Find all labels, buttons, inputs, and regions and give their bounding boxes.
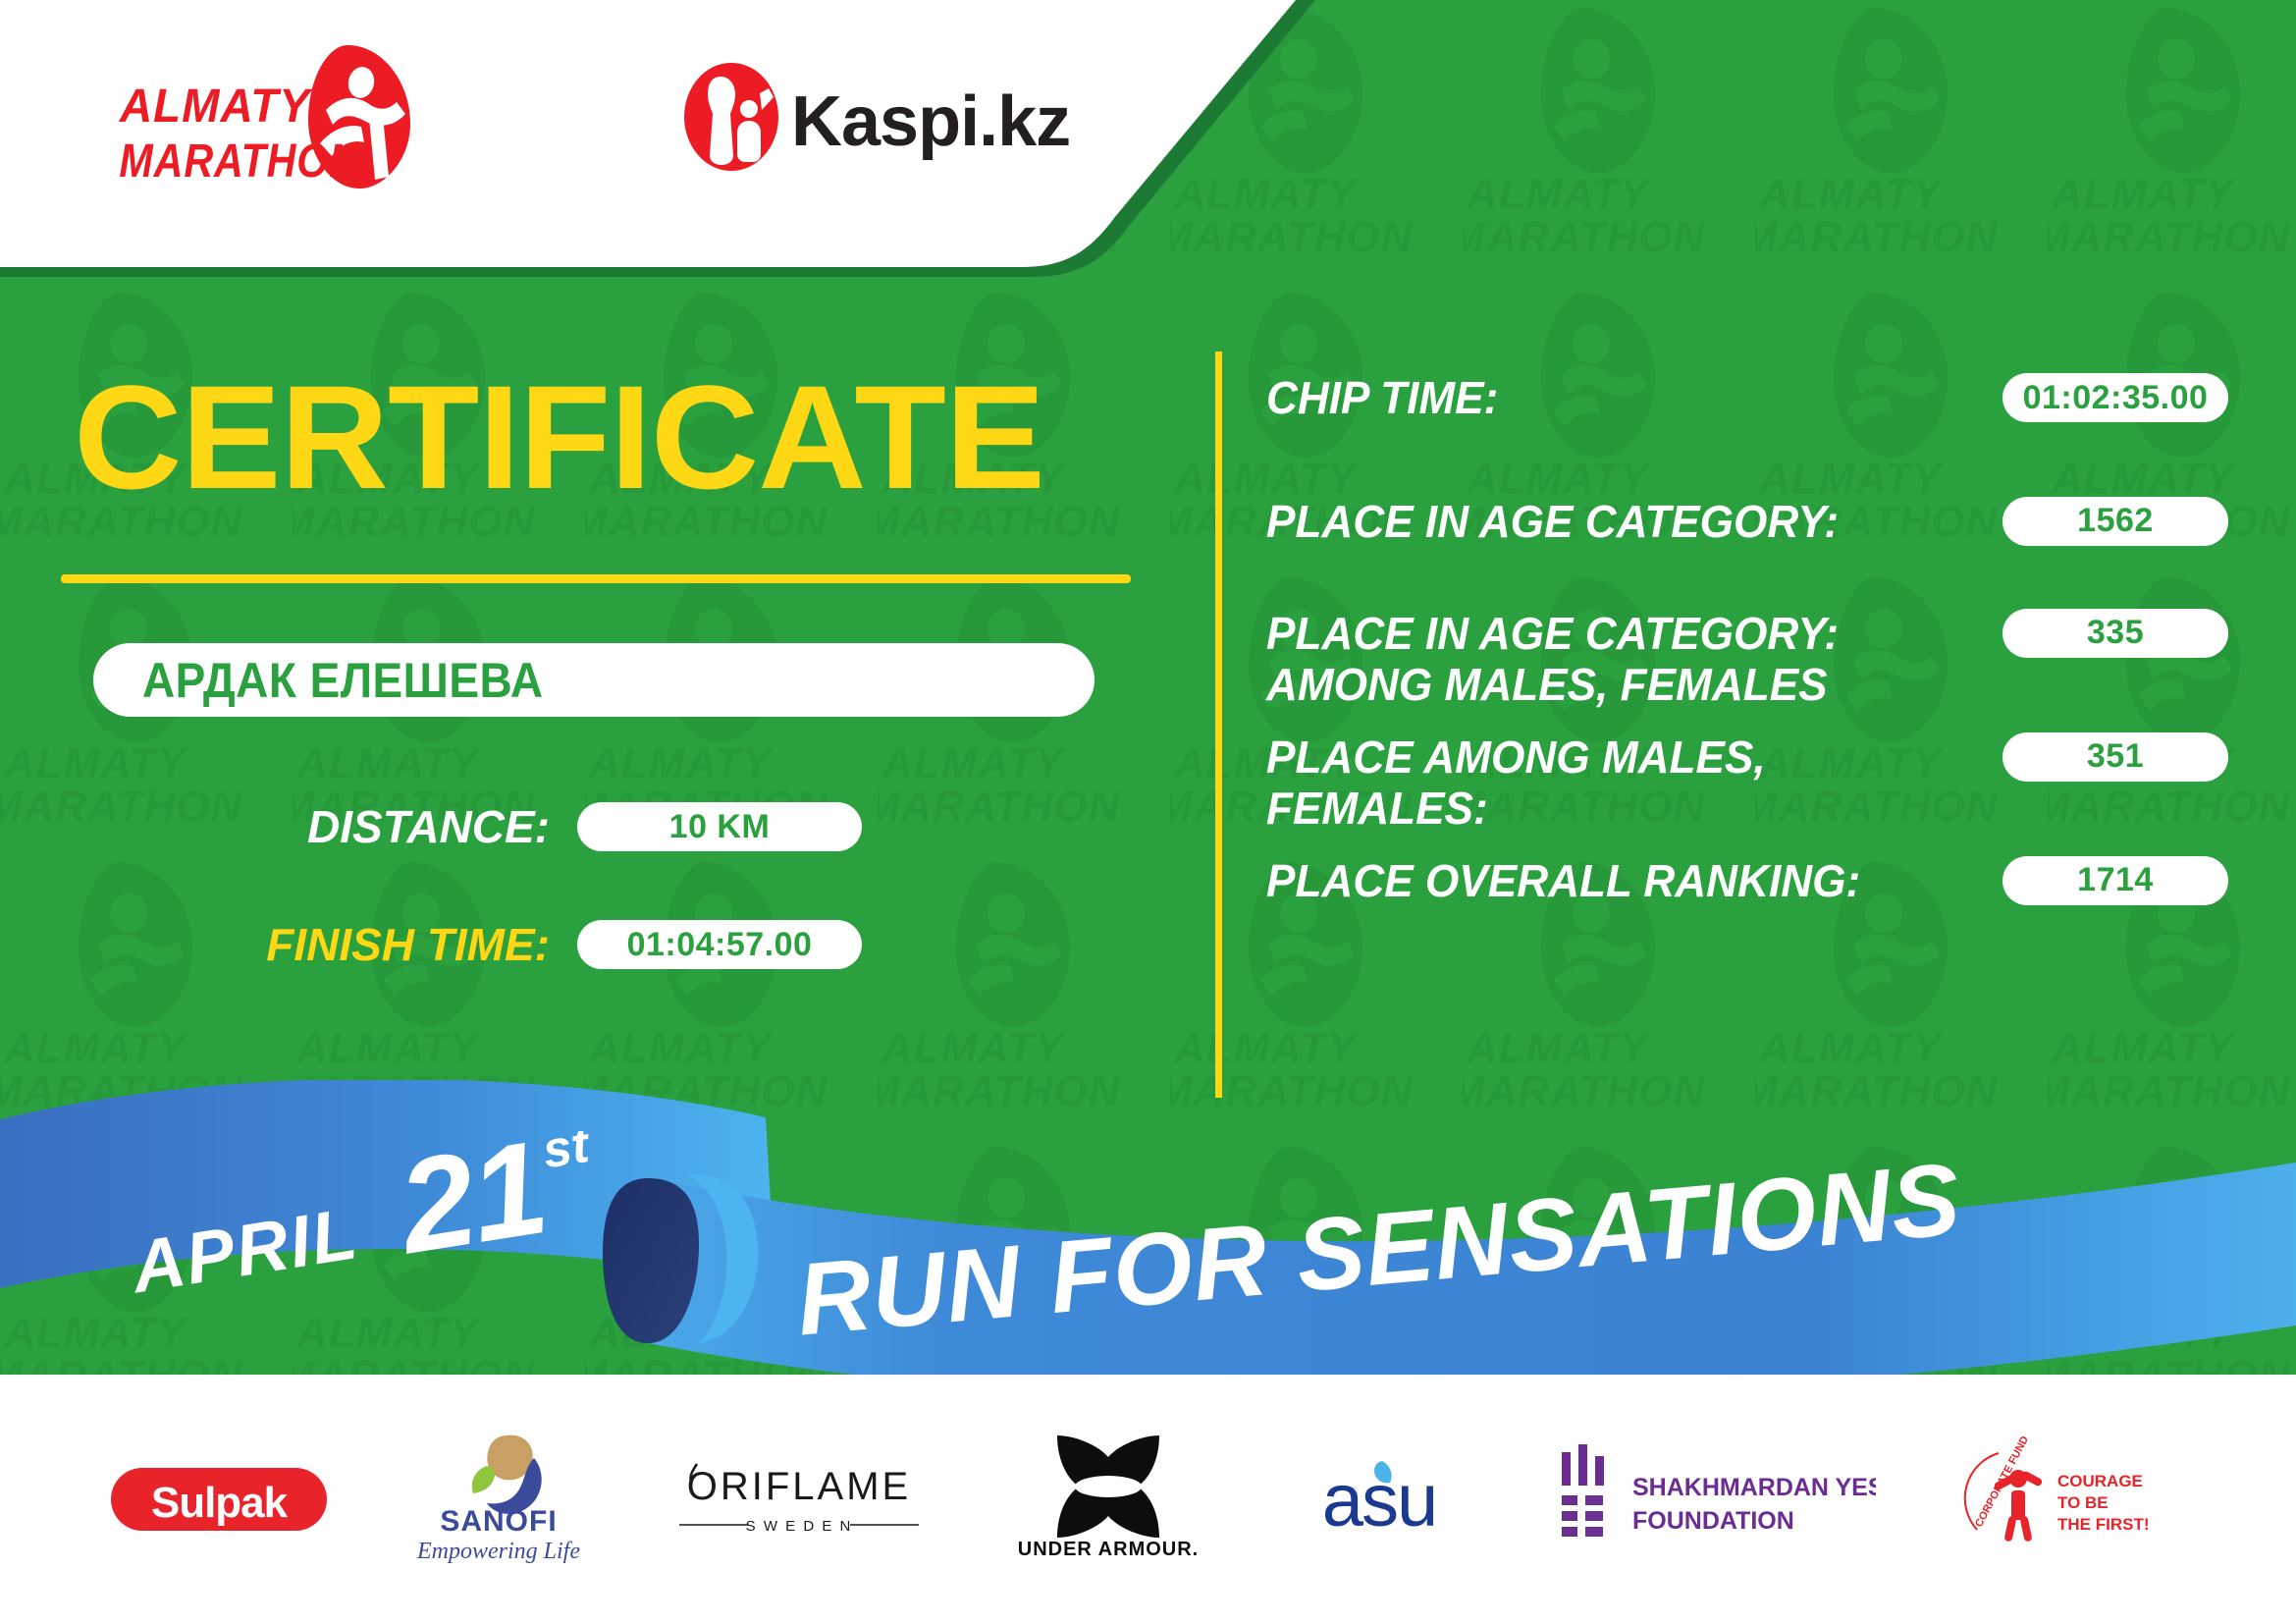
place-among-gender-label: PLACE AMONG MALES, FEMALES: — [1266, 732, 1973, 835]
sponsor-bar: Sulpak SANOFI Empowering Life ORIFLAME S… — [0, 1375, 2296, 1624]
sanofi-logo-tagline: Empowering Life — [416, 1539, 580, 1564]
place-age-category-gender-row: PLACE IN AGE CATEGORY: AMONG MALES, FEMA… — [1266, 609, 2228, 711]
place-age-category-value: 1562 — [2002, 497, 2228, 546]
finish-time-row: FINISH TIME: 01:04:57.00 — [265, 918, 862, 971]
sponsor-under-armour: UNDER ARMOUR. — [1010, 1426, 1206, 1573]
sanofi-logo-text: SANOFI — [441, 1505, 558, 1538]
chip-time-label: CHIP TIME: — [1266, 373, 1973, 424]
participant-name-field: АРДАК ЕЛЕШЕВА — [93, 643, 1095, 717]
sponsor-oriflame: ORIFLAME S W E D E N — [671, 1426, 927, 1573]
under-armour-logo-text: UNDER ARMOUR. — [1018, 1539, 1199, 1560]
place-among-gender-value: 351 — [2002, 732, 2228, 782]
page-title: CERTIFICATE — [74, 363, 1175, 511]
vertical-divider — [1215, 352, 1222, 1098]
chip-time-value: 01:02:35.00 — [2002, 373, 2228, 422]
finish-time-label: FINISH TIME: — [265, 918, 550, 971]
sponsor-sanofi: SANOFI Empowering Life — [410, 1426, 587, 1573]
almaty-logo-line2: MARATHON — [119, 135, 359, 188]
oriflame-logo: ORIFLAME S W E D E N — [671, 1450, 927, 1548]
sponsor-asu: asu — [1291, 1426, 1468, 1573]
almaty-marathon-logo: ALMATY MARATHON — [116, 41, 440, 193]
distance-label: DISTANCE: — [265, 800, 550, 853]
kaspi-people-icon — [684, 63, 778, 171]
title-underline — [61, 574, 1131, 583]
sponsor-courage-fund: CORPORATE FUND COURAGE TO BE THE FIRST! — [1959, 1426, 2185, 1573]
sanofi-logo: SANOFI Empowering Life — [410, 1431, 587, 1568]
participant-name-value: АРДАК ЕЛЕШЕВА — [142, 652, 544, 709]
courage-fund-line3: THE FIRST! — [2057, 1515, 2150, 1534]
place-among-gender-row: PLACE AMONG MALES, FEMALES: 351 — [1266, 732, 2228, 835]
place-age-category-row: PLACE IN AGE CATEGORY: 1562 — [1266, 497, 2228, 548]
almaty-logo-line1: ALMATY — [119, 79, 313, 132]
courage-fund-line1: COURAGE — [2057, 1472, 2143, 1490]
sponsor-sulpak: Sulpak — [111, 1426, 327, 1573]
kaspi-logo: Kaspi.kz — [677, 61, 1070, 174]
sponsor-yessenov-foundation: SHAKHMARDAN YESSENOV FOUNDATION — [1552, 1426, 1876, 1573]
place-overall-row: PLACE OVERALL RANKING: 1714 — [1266, 856, 2228, 907]
oriflame-logo-tagline: S W E D E N — [746, 1518, 853, 1535]
asu-logo: asu — [1291, 1445, 1468, 1553]
distance-row: DISTANCE: 10 KM — [265, 800, 862, 853]
sulpak-logo-text: Sulpak — [151, 1479, 289, 1527]
place-overall-label: PLACE OVERALL RANKING: — [1266, 856, 1973, 907]
finish-time-value: 01:04:57.00 — [577, 920, 862, 969]
place-age-category-label: PLACE IN AGE CATEGORY: — [1266, 497, 1973, 548]
distance-value: 10 KM — [577, 802, 862, 851]
kaspi-logo-text: Kaspi.kz — [791, 82, 1070, 161]
oriflame-logo-text: ORIFLAME — [687, 1465, 911, 1508]
chip-time-row: CHIP TIME: 01:02:35.00 — [1266, 373, 2228, 424]
courage-fund-line2: TO BE — [2057, 1493, 2109, 1512]
courage-fund-logo: CORPORATE FUND COURAGE TO BE THE FIRST! — [1959, 1435, 2185, 1563]
results-stats-list: CHIP TIME: 01:02:35.00 PLACE IN AGE CATE… — [1266, 373, 2228, 907]
sulpak-logo: Sulpak — [111, 1460, 327, 1539]
place-age-category-gender-value: 335 — [2002, 609, 2228, 658]
yessenov-logo-line2: FOUNDATION — [1632, 1507, 1794, 1535]
under-armour-logo: UNDER ARMOUR. — [1010, 1435, 1206, 1563]
yessenov-logo-line1: SHAKHMARDAN YESSENOV — [1632, 1474, 1876, 1501]
courage-fund-figure-icon — [1994, 1470, 2044, 1543]
place-overall-value: 1714 — [2002, 856, 2228, 905]
yessenov-foundation-logo: SHAKHMARDAN YESSENOV FOUNDATION — [1552, 1440, 1876, 1558]
place-age-category-gender-label: PLACE IN AGE CATEGORY: AMONG MALES, FEMA… — [1266, 609, 1973, 711]
ribbon-right-band — [648, 1163, 2296, 1375]
event-ribbon — [0, 1080, 2296, 1375]
